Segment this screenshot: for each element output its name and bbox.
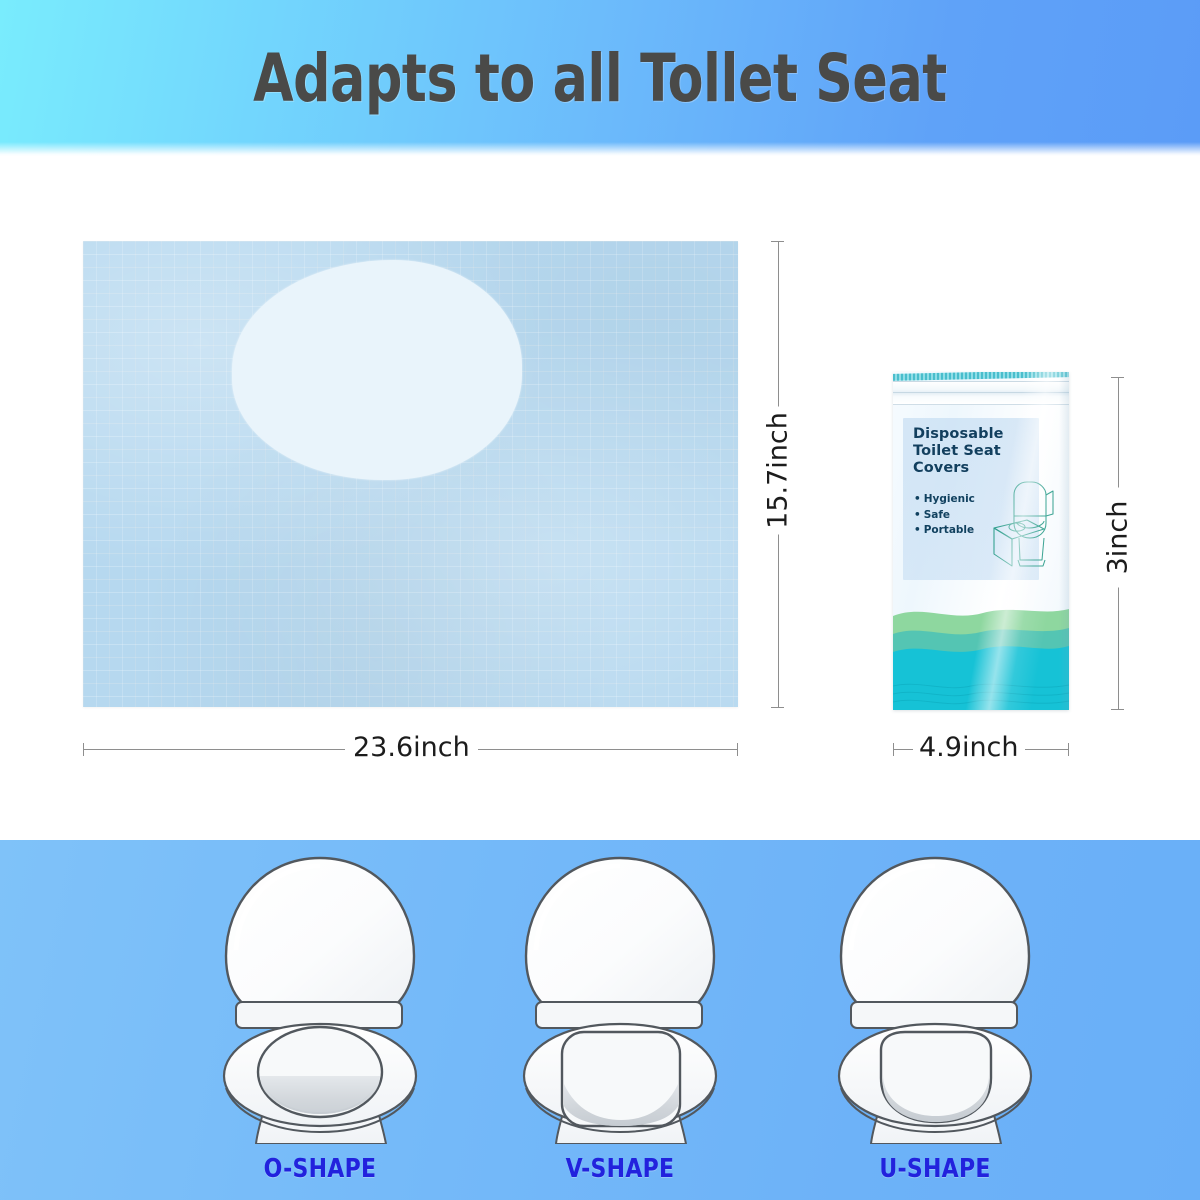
toilet-shapes-section: O-SHAPE V-SHAPE <box>0 840 1200 1200</box>
package-height-label: 3inch <box>1099 488 1138 588</box>
dimensions-section: 15.7inch 23.6inch Disposable Toilet Seat… <box>0 156 1200 840</box>
toilet-shape-label-u: U-SHAPE <box>813 1154 1057 1184</box>
sheet-width-dim-cap-right <box>737 743 738 756</box>
package-feature-list: Hygienic Safe Portable <box>914 492 975 539</box>
toilet-shape-label-v: V-SHAPE <box>498 1154 742 1184</box>
package-height-dim-cap-bottom <box>1111 709 1124 710</box>
package-feature-item: Portable <box>914 523 975 539</box>
package-title-line1: Disposable <box>913 426 1059 443</box>
toilet-illustration-u-icon <box>815 844 1055 1144</box>
sheet-height-dim-cap-bottom <box>771 707 784 708</box>
package-zip-seal <box>893 381 1069 405</box>
package-feature-item: Hygienic <box>914 492 975 508</box>
header-banner: Adapts to all Tollet Seat <box>0 0 1200 156</box>
toilet-shape-u: U-SHAPE <box>805 844 1065 1200</box>
sheet-width-label: 23.6inch <box>345 732 478 763</box>
toilet-shape-v: V-SHAPE <box>490 844 750 1200</box>
sheet-height-dim-cap-top <box>771 241 784 242</box>
package-body: Disposable Toilet Seat Covers Hygienic S… <box>893 372 1069 710</box>
toilet-illustration-o-icon <box>200 844 440 1144</box>
package-title-line2: Toilet Seat Covers <box>913 443 1059 477</box>
sheet-height-label: 15.7inch <box>759 407 798 535</box>
package-width-label: 4.9inch <box>913 732 1025 763</box>
product-package: Disposable Toilet Seat Covers Hygienic S… <box>893 372 1069 710</box>
package-title: Disposable Toilet Seat Covers <box>913 426 1059 477</box>
sheet-fabric <box>83 241 738 707</box>
toilet-shape-label-o: O-SHAPE <box>198 1154 442 1184</box>
toilet-illustration-v-icon <box>500 844 740 1144</box>
seat-cover-sheet <box>83 241 738 707</box>
package-wave-graphic <box>893 582 1069 710</box>
product-infographic: Adapts to all Tollet Seat 15.7inch 23.6i… <box>0 0 1200 1200</box>
toilet-shape-o: O-SHAPE <box>190 844 450 1200</box>
page-title: Adapts to all Tollet Seat <box>72 0 1128 156</box>
package-feature-item: Safe <box>914 508 975 524</box>
package-width-dim-cap-left <box>893 743 894 756</box>
package-width-dim-cap-right <box>1068 743 1069 756</box>
sheet-width-dim-cap-left <box>83 743 84 756</box>
package-toilet-line-art-icon <box>989 476 1067 574</box>
package-height-dim-cap-top <box>1111 377 1124 378</box>
package-serrated-top-edge <box>893 372 1069 381</box>
